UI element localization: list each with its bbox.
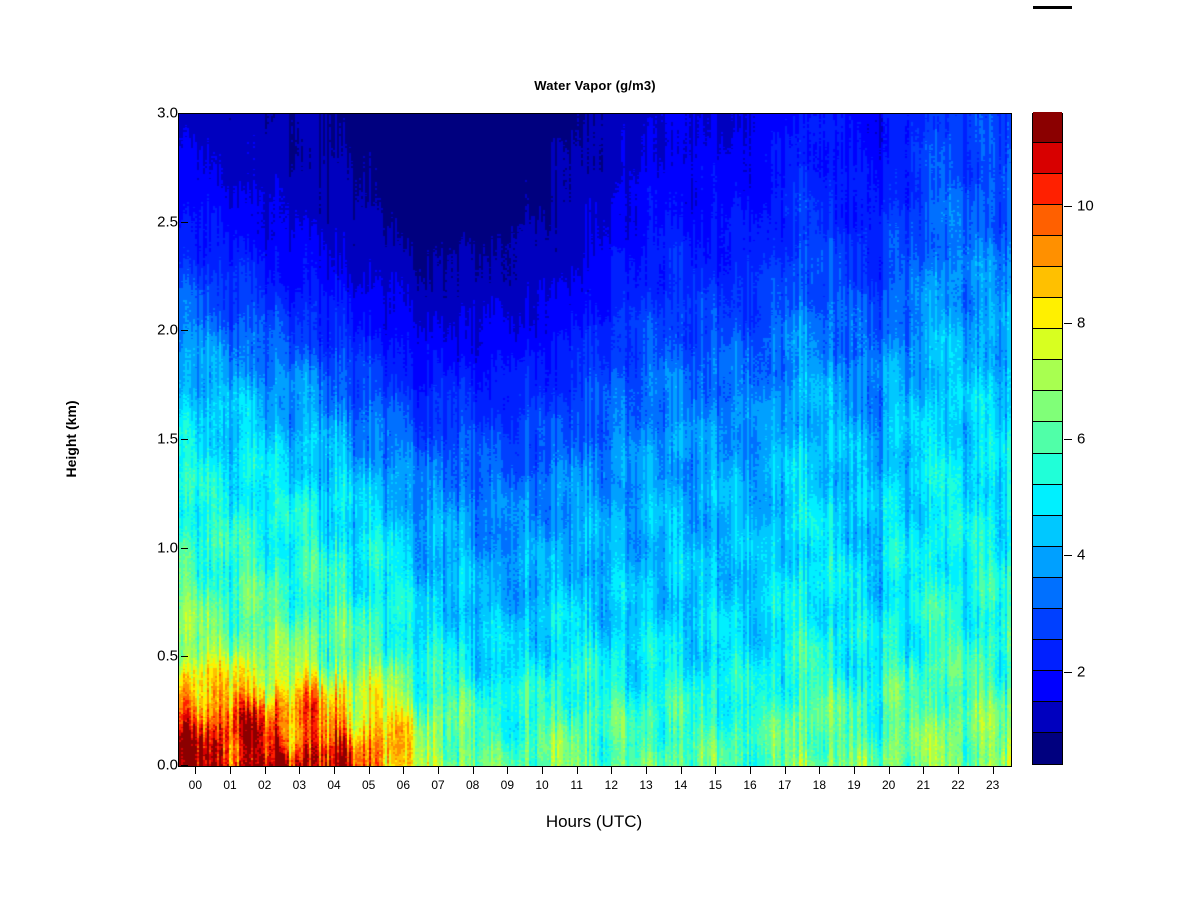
x-tick-mark (958, 766, 959, 774)
x-tick-label: 19 (847, 778, 860, 792)
y-tick-mark (181, 113, 188, 114)
colorbar-band (1033, 485, 1062, 516)
colorbar-tick-label: 6 (1077, 431, 1085, 448)
colorbar-band (1033, 205, 1062, 236)
x-tick-label: 10 (535, 778, 548, 792)
colorbar-tick-label: 10 (1077, 198, 1094, 215)
x-tick-mark (473, 766, 474, 774)
x-tick-label: 11 (570, 778, 582, 792)
x-tick-label: 20 (882, 778, 895, 792)
x-tick-mark (195, 766, 196, 774)
x-tick-label: 23 (986, 778, 999, 792)
x-tick-mark (854, 766, 855, 774)
x-tick-mark (993, 766, 994, 774)
y-tick-mark (181, 548, 188, 549)
colorbar-band (1033, 143, 1062, 174)
x-tick-mark (889, 766, 890, 774)
x-tick-mark (923, 766, 924, 774)
x-tick-mark (265, 766, 266, 774)
colorbar-band (1033, 267, 1062, 298)
x-tick-label: 14 (674, 778, 687, 792)
colorbar-tick-mark (1064, 439, 1072, 440)
x-tick-label: 08 (466, 778, 479, 792)
x-tick-label: 00 (189, 778, 202, 792)
x-tick-mark (577, 766, 578, 774)
y-tick-mark (181, 765, 188, 766)
colorbar-tick-mark (1064, 323, 1072, 324)
x-tick-mark (542, 766, 543, 774)
x-tick-mark (369, 766, 370, 774)
x-tick-label: 18 (813, 778, 826, 792)
colorbar-tick-label: 8 (1077, 314, 1085, 331)
x-tick-mark (819, 766, 820, 774)
x-tick-mark (334, 766, 335, 774)
colorbar-band (1033, 702, 1062, 733)
x-tick-label: 07 (431, 778, 444, 792)
y-tick-mark (181, 656, 188, 657)
y-tick-label: 2.5 (157, 213, 178, 230)
x-tick-mark (681, 766, 682, 774)
x-tick-mark (715, 766, 716, 774)
colorbar-band (1033, 578, 1062, 609)
x-tick-label: 22 (951, 778, 964, 792)
x-tick-label: 06 (397, 778, 410, 792)
colorbar-band (1033, 329, 1062, 360)
colorbar-band (1033, 516, 1062, 547)
x-tick-label: 03 (293, 778, 306, 792)
x-tick-mark (507, 766, 508, 774)
x-tick-label: 05 (362, 778, 375, 792)
x-tick-label: 16 (743, 778, 756, 792)
colorbar-band (1033, 640, 1062, 671)
heatmap-field (179, 114, 1011, 766)
x-tick-label: 21 (917, 778, 930, 792)
y-tick-label: 1.0 (157, 539, 178, 556)
x-tick-mark (438, 766, 439, 774)
plot-area (178, 113, 1012, 767)
colorbar-band (1033, 671, 1062, 702)
colorbar-band (1033, 236, 1062, 267)
x-tick-mark (646, 766, 647, 774)
y-tick-label: 3.0 (157, 105, 178, 122)
y-tick-label: 0.5 (157, 648, 178, 665)
y-axis (0, 0, 178, 900)
colorbar-band (1033, 422, 1062, 453)
x-tick-label: 09 (501, 778, 514, 792)
x-tick-label: 12 (605, 778, 618, 792)
x-tick-mark (611, 766, 612, 774)
y-tick-mark (181, 439, 188, 440)
colorbar-tick-label: 4 (1077, 547, 1085, 564)
x-tick-label: 17 (778, 778, 791, 792)
y-tick-mark (181, 222, 188, 223)
x-tick-mark (785, 766, 786, 774)
colorbar (1032, 113, 1063, 765)
colorbar-band (1033, 609, 1062, 640)
colorbar-band (1033, 454, 1062, 485)
colorbar-band (1033, 174, 1062, 205)
colorbar-band (1033, 360, 1062, 391)
page-title: Water Vapor (g/m3) (0, 78, 1190, 93)
colorbar-tick-mark (1064, 672, 1072, 673)
colorbar-tick-mark (1064, 555, 1072, 556)
x-tick-mark (750, 766, 751, 774)
colorbar-tick-label: 2 (1077, 663, 1085, 680)
y-tick-label: 1.5 (157, 431, 178, 448)
x-tick-label: 01 (223, 778, 236, 792)
y-tick-mark (181, 330, 188, 331)
x-tick-mark (230, 766, 231, 774)
x-axis-title: Hours (UTC) (178, 812, 1010, 832)
x-tick-label: 04 (327, 778, 340, 792)
colorbar-tick-mark (1064, 206, 1072, 207)
colorbar-band (1033, 298, 1062, 329)
y-tick-label: 2.0 (157, 322, 178, 339)
colorbar-band (1033, 733, 1062, 764)
corner-rule-artifact (1033, 6, 1072, 9)
x-tick-mark (299, 766, 300, 774)
colorbar-band (1033, 547, 1062, 578)
x-tick-label: 13 (639, 778, 652, 792)
x-tick-mark (403, 766, 404, 774)
colorbar-band (1033, 112, 1062, 143)
figure-canvas: Water Vapor (g/m3) Height (km) Hours (UT… (0, 0, 1200, 900)
y-tick-label: 0.0 (157, 757, 178, 774)
x-tick-label: 02 (258, 778, 271, 792)
x-tick-label: 15 (709, 778, 722, 792)
colorbar-band (1033, 391, 1062, 422)
